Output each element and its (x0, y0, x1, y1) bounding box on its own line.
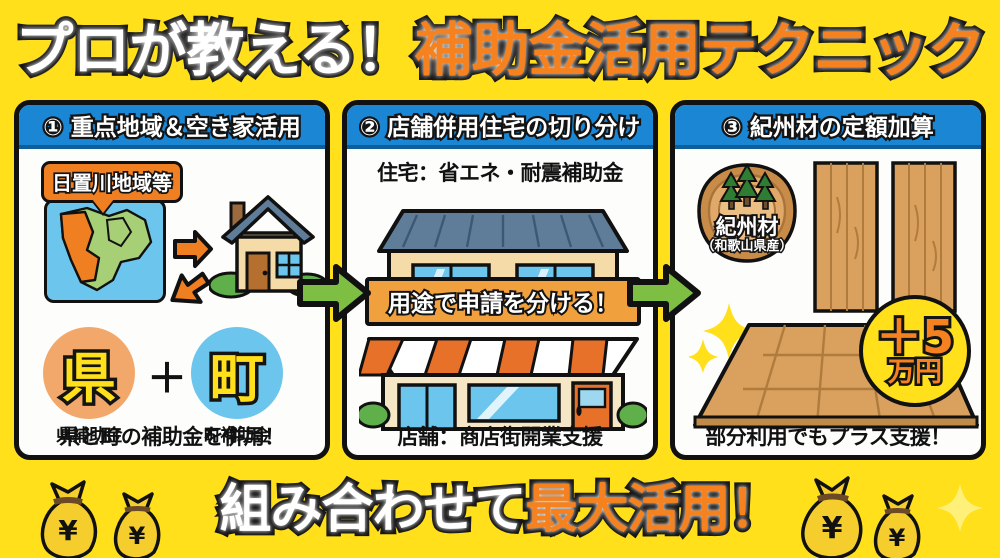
footer-part-2: 最大活用！ (526, 484, 781, 536)
panel-1-body: 日置川地域等 (19, 149, 325, 455)
panel-3-header-label: ③ 紀州材の定額加算 (722, 108, 933, 142)
footer-part-1: 組み合わせて (219, 484, 525, 536)
use-split-banner: 用途で申請を分ける！ (365, 277, 641, 326)
kishu-timber-badge: 紀州材 （和歌山県産） (689, 161, 805, 265)
title-part-1: プロが教える！ (15, 21, 412, 79)
panel-2-header: ② 店舗併用住宅の切り分け (347, 105, 653, 149)
town-kanji: 町 (210, 334, 264, 413)
wood-planks-icon (811, 157, 961, 317)
map-area-label: 日置川地域等 (41, 161, 183, 203)
page-title: プロが教える！ 補助金活用テクニック (0, 6, 1000, 94)
panel-2-body: 住宅：省エネ・耐震補助金 (347, 149, 653, 455)
map-area-label-text: 日置川地域等 (52, 171, 172, 195)
map-svg (47, 202, 163, 300)
green-right-arrow-icon-2 (626, 262, 702, 324)
panel-1-priority-area[interactable]: ① 重点地域＆空き家活用 日置川地域等 (14, 100, 330, 460)
panel-3-body: 紀州材 （和歌山県産） (675, 149, 981, 455)
panel-2-mixed-use[interactable]: ② 店舗併用住宅の切り分け 住宅：省エネ・耐震補助金 (342, 100, 658, 460)
town-subsidy-circle: 町 (191, 327, 283, 419)
plus-sign: ＋ (147, 359, 187, 399)
footer-banner: 組み合わせて 最大活用！ (0, 464, 1000, 556)
infographic-canvas: プロが教える！ 補助金活用テクニック ① 重点地域＆空き家活用 日置川地域等 (0, 0, 1000, 558)
panel-1-header: ① 重点地域＆空き家活用 (19, 105, 325, 149)
green-right-arrow-icon-1 (296, 262, 372, 324)
bonus-amount-unit: 万円 (888, 359, 942, 386)
bonus-amount-badge: ＋5 万円 (859, 295, 971, 407)
use-split-banner-text: 用途で申請を分ける！ (388, 291, 618, 317)
panel-3-header: ③ 紀州材の定額加算 (675, 105, 981, 149)
kishu-timber-badge-sub: （和歌山県産） (689, 235, 805, 254)
bonus-amount-value: ＋5 (876, 316, 954, 358)
panel-row: ① 重点地域＆空き家活用 日置川地域等 (14, 100, 986, 460)
panel-3-kishu-timber[interactable]: ③ 紀州材の定額加算 (670, 100, 986, 460)
panel-2-top-text: 住宅：省エネ・耐震補助金 (347, 157, 653, 187)
prefecture-subsidy-circle: 県 (43, 327, 135, 419)
prefecture-kanji: 県 (62, 334, 116, 413)
wakayama-map-icon (44, 199, 166, 303)
panel-2-caption: 店舗：商店街開業支援 (347, 421, 653, 451)
panel-2-header-label: ② 店舗併用住宅の切り分け (360, 108, 640, 142)
orange-down-left-arrow-icon (159, 269, 217, 327)
panel-1-caption: 県と町の補助金を併用！ (19, 421, 325, 451)
panel-1-header-label: ① 重点地域＆空き家活用 (43, 108, 300, 142)
title-part-2: 補助金活用テクニック (415, 21, 985, 79)
panel-3-caption: 部分利用でもプラス支援！ (675, 421, 981, 451)
